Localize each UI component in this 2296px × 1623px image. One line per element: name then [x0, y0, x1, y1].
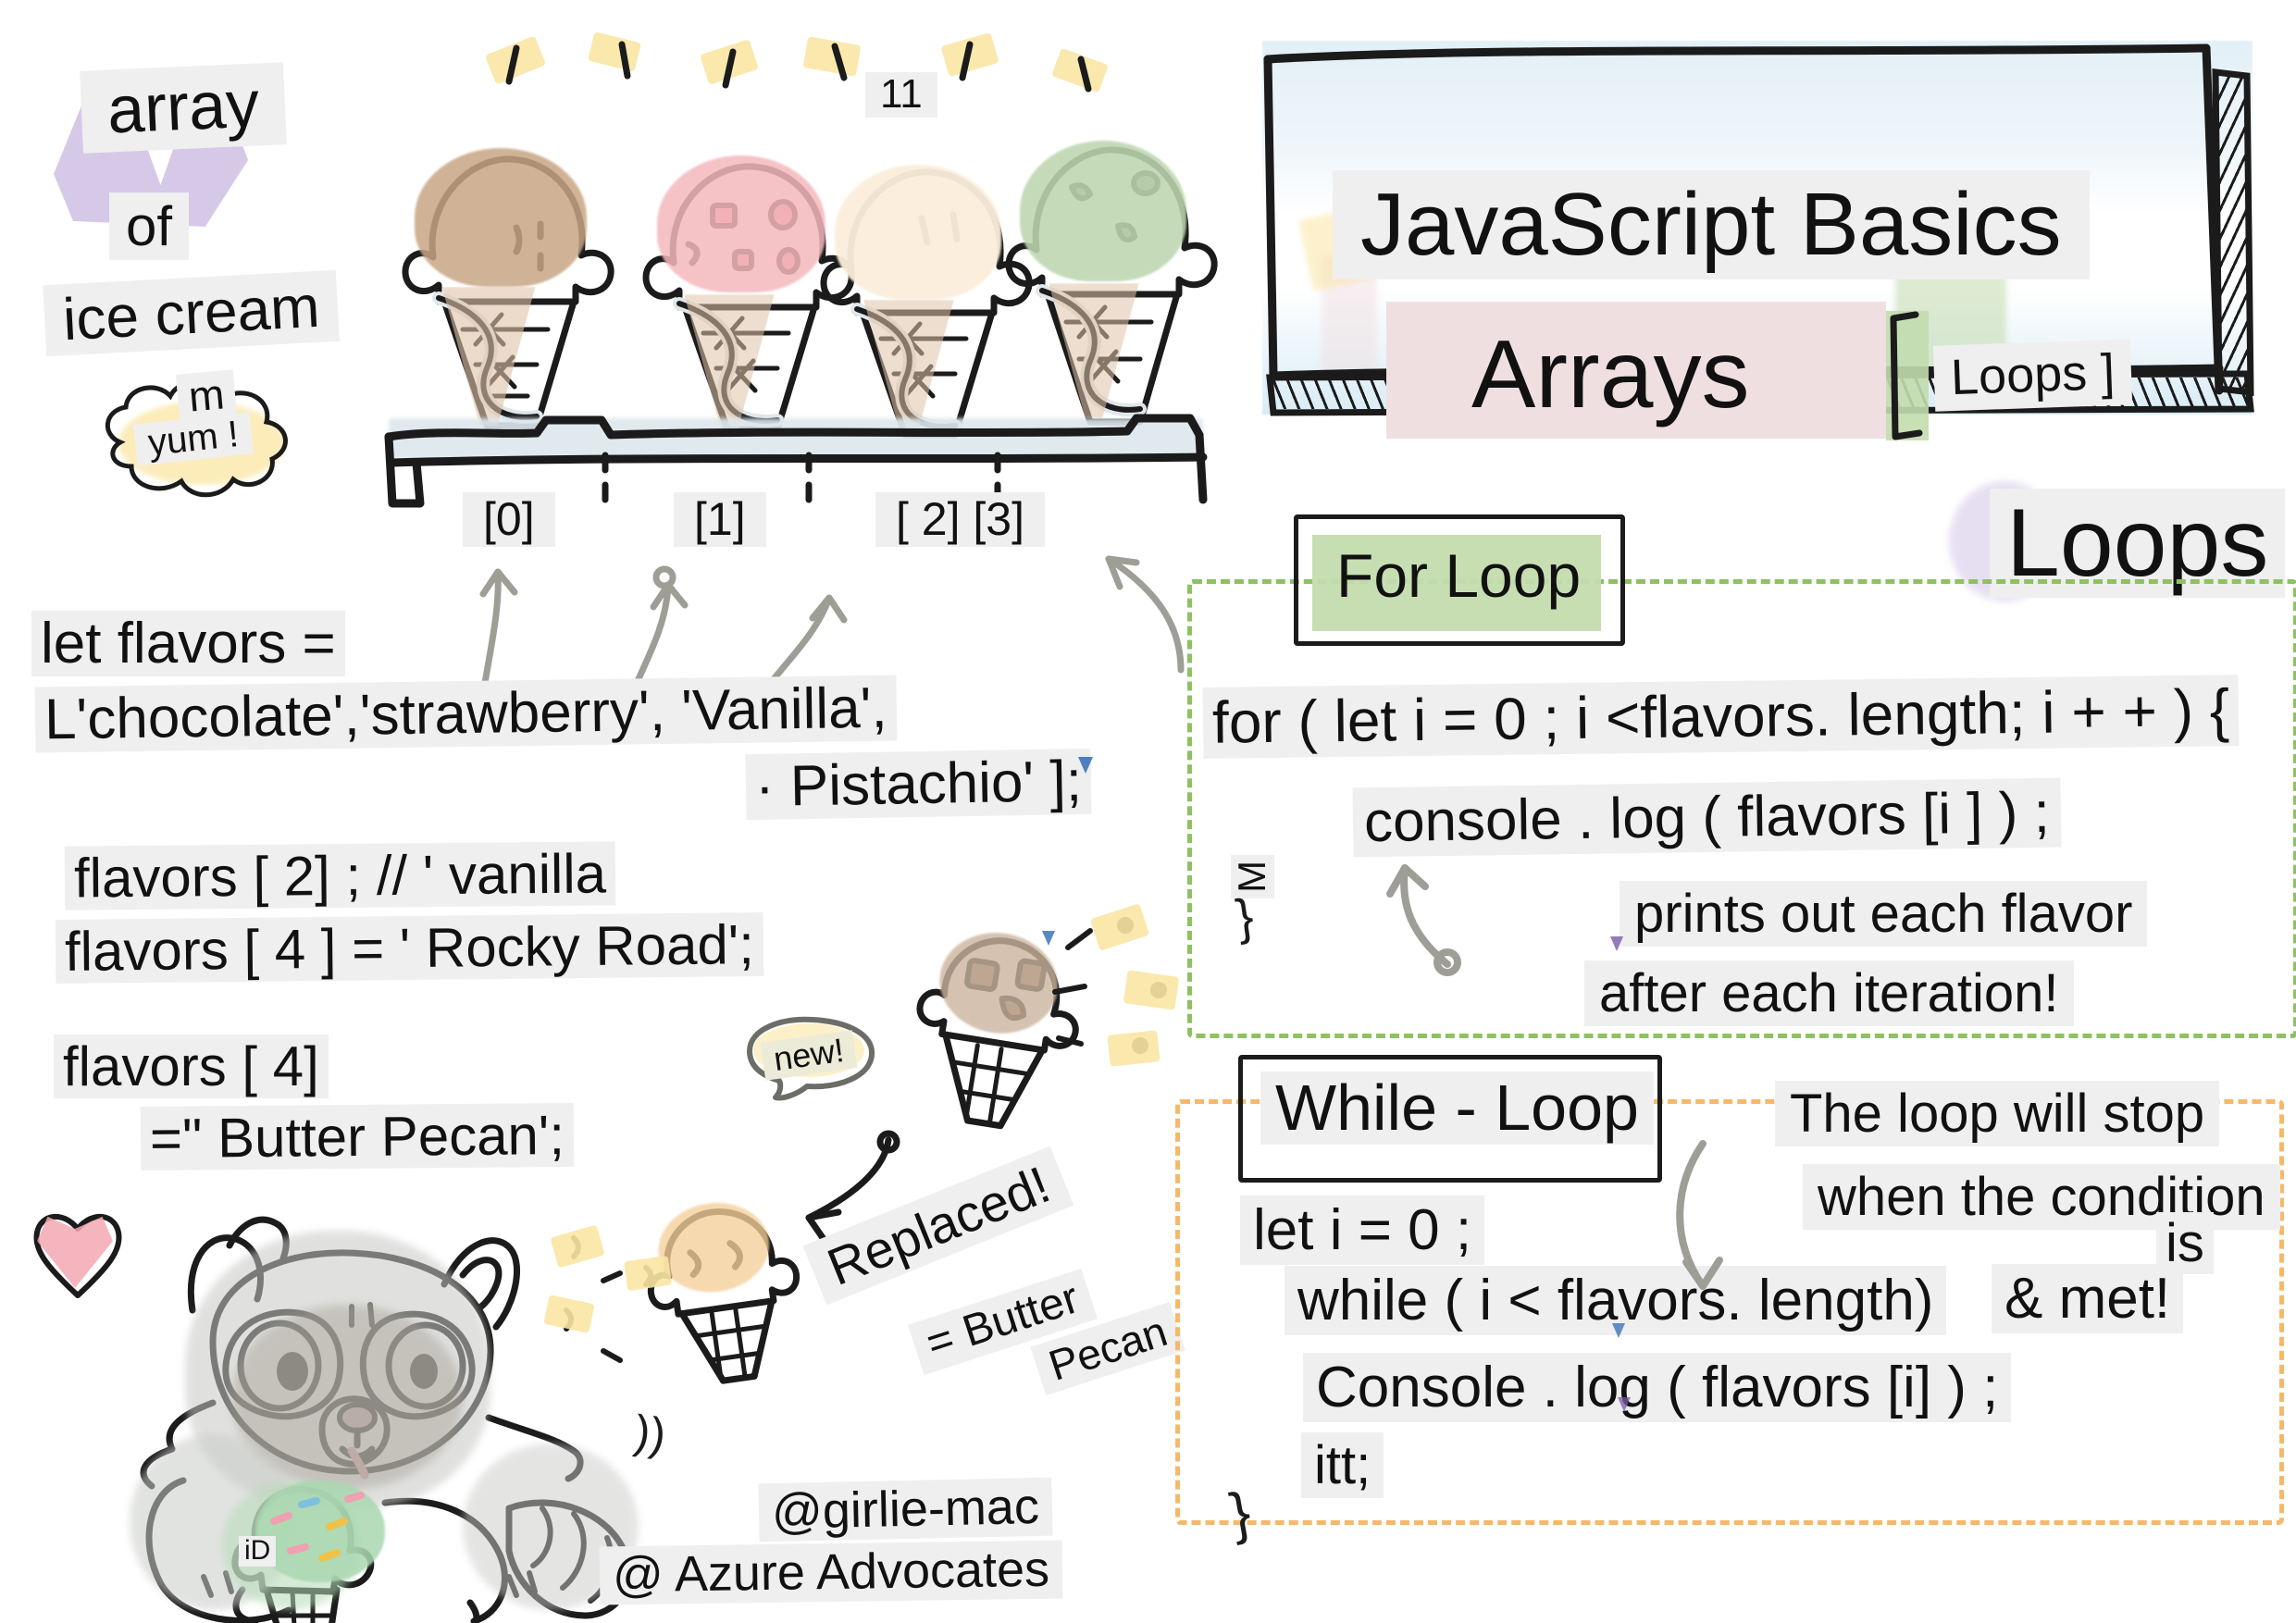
- sparkle-cluster-raccoon: [537, 1221, 713, 1406]
- for-loop-label: For Loop: [1336, 540, 1581, 611]
- array-index-2-3: [ 2] [3]: [875, 492, 1045, 547]
- while-loop-label: While - Loop: [1260, 1072, 1654, 1145]
- for-loop-note-arrow: [1388, 861, 1508, 981]
- poster-heading-ice-cream: ice cream: [43, 270, 340, 357]
- while-loop-code-line-4: itt;: [1301, 1432, 1384, 1498]
- code-line-declare: let flavors =: [31, 611, 345, 676]
- rocky-road-sparkles: [1036, 907, 1203, 1092]
- sketchnote-canvas: array of ice cream m yum ! 11: [0, 0, 2296, 1618]
- code-line-index4: flavors [ 4]: [54, 1035, 329, 1098]
- array-index-1: [1]: [674, 492, 766, 547]
- for-loop-note-line-1: prints out each flavor: [1620, 881, 2147, 947]
- new-speech-bubble: new!: [740, 1010, 888, 1107]
- poster-heading-of: of: [109, 192, 189, 260]
- ice-cream-cone-chocolate: [398, 139, 620, 444]
- poster-heading-array: array: [80, 62, 287, 154]
- banner-loops-tag: Loops ]: [1933, 339, 2132, 411]
- while-loop-note-line-1: The loop will stop: [1775, 1081, 2219, 1146]
- while-loop-note-arrow: [1666, 1138, 1795, 1305]
- while-loop-code-line-1: let i = 0 ;: [1240, 1196, 1484, 1265]
- sparkle-count-label: 11: [865, 72, 937, 118]
- credit-author: @girlie-mac: [758, 1478, 1052, 1542]
- title-banner: JavaScript Basics Arrays Loops ]: [1257, 35, 2265, 433]
- while-loop-code-line-3: Console . log ( flavors [i] ) ;: [1303, 1353, 2011, 1422]
- array-index-0: [0]: [463, 492, 555, 547]
- code-line-assign-pecan: =" Butter Pecan';: [141, 1103, 575, 1171]
- code-line-values-a: L'chocolate','strawberry', 'Vanilla',: [35, 675, 898, 753]
- code-line-values-b: · Pistachio' ];: [745, 749, 1091, 821]
- for-loop-note-line-2: after each iteration!: [1584, 960, 2074, 1026]
- for-loop-code-line-2: console . log ( flavors [i ] ) ;: [1353, 778, 2062, 858]
- credit-org: @ Azure Advocates: [600, 1541, 1063, 1605]
- ice-cream-cone-pistachio: [999, 130, 1231, 444]
- code-line-assign-rocky: flavors [ 4 ] = ' Rocky Road';: [56, 912, 764, 984]
- while-loop-note-line-4: & met!: [1992, 1264, 2183, 1333]
- artist-signature: iD: [239, 1536, 276, 1567]
- code-line-access: flavors [ 2] ; // ' vanilla: [65, 841, 616, 910]
- for-loop-code-line-1: for ( let i = 0 ; i <flavors. length; i …: [1203, 675, 2240, 759]
